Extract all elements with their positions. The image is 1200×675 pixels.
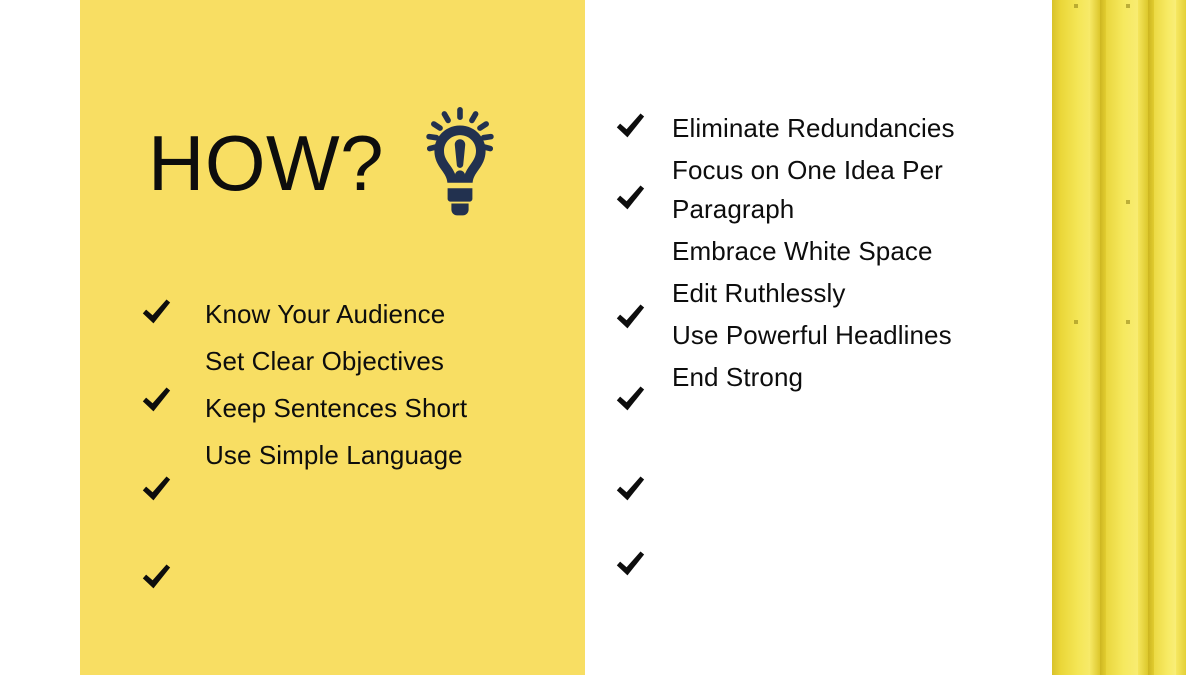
checkmark-icon <box>613 110 647 144</box>
panel-nick <box>1126 200 1130 204</box>
checkmark-icon <box>613 301 647 335</box>
list-item: End Strong <box>672 357 803 398</box>
checkmark-icon <box>139 296 173 330</box>
page-title: HOW? <box>148 124 384 202</box>
list-item: Keep Sentences Short <box>205 388 467 429</box>
list-item: Use Simple Language <box>205 435 463 476</box>
checkmark-icon <box>613 548 647 582</box>
checkmark-icon <box>613 383 647 417</box>
panel-nick <box>1126 4 1130 8</box>
checkmark-icon <box>613 182 647 216</box>
list-item: Set Clear Objectives <box>205 341 444 382</box>
slide-canvas: HOW? <box>0 0 1200 675</box>
checkmark-icon <box>139 561 173 595</box>
checkmark-icon <box>613 473 647 507</box>
list-item: Use Powerful Headlines <box>672 315 952 356</box>
list-item: Edit Ruthlessly <box>672 273 845 314</box>
panel-nick <box>1074 4 1078 8</box>
corrugated-metal-photo <box>1052 0 1186 675</box>
panel-nick <box>1074 320 1078 324</box>
list-item: Embrace White Space <box>672 231 933 272</box>
list-item: Paragraph <box>672 189 794 230</box>
checkmark-icon <box>139 473 173 507</box>
lightbulb-exclamation-icon <box>412 107 508 219</box>
checkmark-icon <box>139 384 173 418</box>
list-item: Know Your Audience <box>205 294 445 335</box>
heading-row: HOW? <box>148 108 518 218</box>
panel-nick <box>1126 320 1130 324</box>
list-item: Eliminate Redundancies <box>672 108 955 149</box>
list-item: Focus on One Idea Per <box>672 150 943 191</box>
